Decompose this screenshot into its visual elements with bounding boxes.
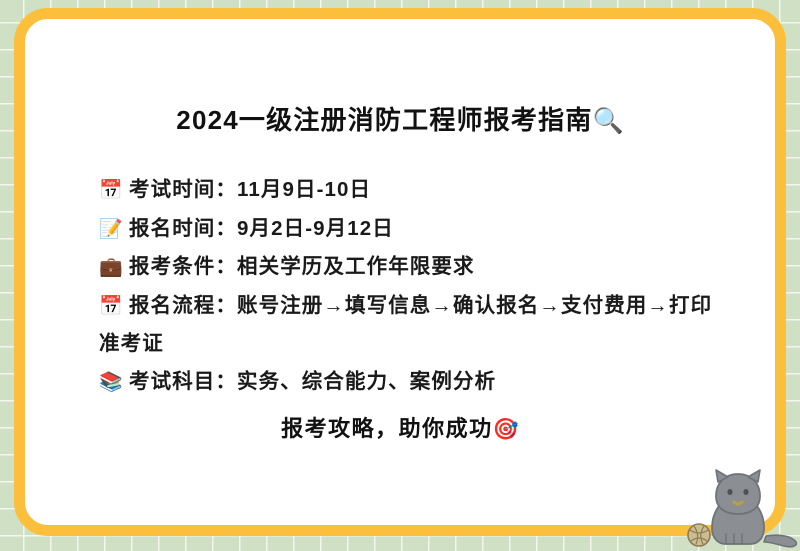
memo-pencil-icon: 📝 <box>99 211 129 249</box>
list-item-registration-date: 📝报名时间：9月2日-9月12日 <box>99 210 717 249</box>
list-item-text: 报考条件：相关学历及工作年限要求 <box>129 255 475 278</box>
footer-slogan-text: 报考攻略，助你成功 <box>281 416 493 441</box>
poster-card: 2024一级注册消防工程师报考指南🔍 📅考试时间：11月9日-10日 📝报名时间… <box>25 19 775 525</box>
list-item-text: 报名时间：9月2日-9月12日 <box>129 217 394 240</box>
poster-frame: 2024一级注册消防工程师报考指南🔍 📅考试时间：11月9日-10日 📝报名时间… <box>14 8 786 536</box>
briefcase-icon: 💼 <box>99 249 129 287</box>
list-item-eligibility: 💼报考条件：相关学历及工作年限要求 <box>99 248 717 287</box>
list-item-exam-date: 📅考试时间：11月9日-10日 <box>99 171 717 210</box>
cat-tail <box>764 535 796 547</box>
calendar-icon: 📅 <box>99 172 129 210</box>
list-item-text: 考试科目：实务、综合能力、案例分析 <box>129 370 496 393</box>
info-list: 📅考试时间：11月9日-10日 📝报名时间：9月2日-9月12日 💼报考条件：相… <box>99 171 717 401</box>
calendar-icon: 📅 <box>99 288 129 326</box>
list-item-registration-process: 📅报名流程：账号注册→填写信息→确认报名→支付费用→打印准考证 <box>99 287 717 363</box>
list-item-subjects: 📚考试科目：实务、综合能力、案例分析 <box>99 363 717 402</box>
list-item-text: 考试时间：11月9日-10日 <box>129 178 371 201</box>
bullseye-target-icon: 🎯 <box>493 418 519 441</box>
page-title: 2024一级注册消防工程师报考指南🔍 <box>25 105 775 136</box>
magnifying-glass-icon: 🔍 <box>593 107 624 135</box>
list-item-text: 报名流程：账号注册→填写信息→确认报名→支付费用→打印准考证 <box>99 294 712 356</box>
poster-canvas: 2024一级注册消防工程师报考指南🔍 📅考试时间：11月9日-10日 📝报名时间… <box>0 0 800 551</box>
books-icon: 📚 <box>99 364 129 402</box>
page-title-text: 2024一级注册消防工程师报考指南 <box>176 105 592 135</box>
footer-slogan: 报考攻略，助你成功🎯 <box>25 411 775 443</box>
